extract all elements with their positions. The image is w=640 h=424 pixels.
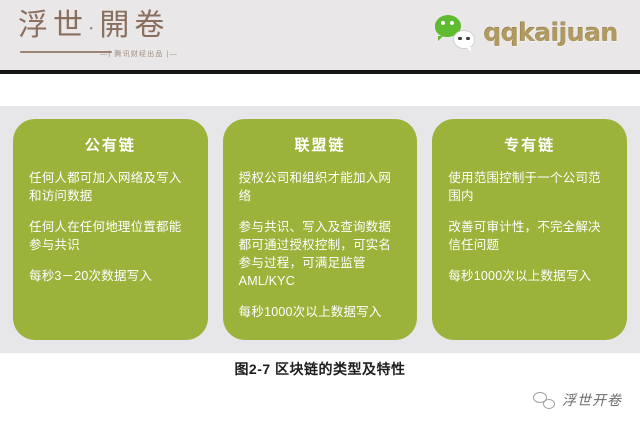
- card-title: 专有链: [448, 136, 611, 155]
- brand-logo-part2: 開卷: [99, 8, 169, 43]
- card-point: 任何人都可加入网络及写入和访问数据: [29, 169, 192, 205]
- wechat-account-name: qqkaijuan: [484, 18, 618, 47]
- card-point: 任何人在任何地理位置都能参与共识: [29, 218, 192, 254]
- wechat-bubble-small: [453, 30, 475, 49]
- brand-logo-text: 浮世·開卷: [18, 7, 169, 47]
- card-group: 公有链 任何人都可加入网络及写入和访问数据 任何人在任何地理位置都能参与共识 每…: [13, 119, 627, 340]
- card-point: 参与共识、写入及查询数据都可通过授权控制，可实名参与过程，可满足监管AML/KY…: [239, 218, 402, 290]
- figure-caption: 图2-7 区块链的类型及特性: [0, 359, 640, 379]
- card-private-chain: 专有链 使用范围控制于一个公司范围内 改善可审计性，不完全解决信任问题 每秒10…: [432, 119, 627, 340]
- card-title: 公有链: [29, 136, 192, 155]
- brand-subtitle: —| 腾讯财经出品 |—: [100, 49, 178, 59]
- header-divider-rule: [0, 70, 640, 74]
- wechat-eye-left: [441, 21, 445, 25]
- wechat-logo-icon: [435, 15, 475, 49]
- footer-bubble-small: [543, 399, 555, 409]
- brand-logo: 浮世·開卷 —| 腾讯财经出品 |—: [18, 7, 193, 63]
- wechat-eye-right: [450, 21, 454, 25]
- figure-panel: 公有链 任何人都可加入网络及写入和访问数据 任何人在任何地理位置都能参与共识 每…: [0, 106, 640, 353]
- document-page: 浮世·開卷 —| 腾讯财经出品 |— qqkaijuan 公有链 任何人都可加入…: [0, 0, 640, 424]
- card-title: 联盟链: [239, 136, 402, 155]
- card-point: 授权公司和组织才能加入网络: [239, 169, 402, 205]
- brand-logo-part1: 浮世: [18, 8, 88, 43]
- wechat-logo-icon: [533, 392, 555, 409]
- card-point: 改善可审计性，不完全解决信任问题: [448, 218, 611, 254]
- card-point: 每秒1000次以上数据写入: [239, 303, 402, 321]
- card-point: 每秒3－20次数据写入: [29, 267, 192, 285]
- card-public-chain: 公有链 任何人都可加入网络及写入和访问数据 任何人在任何地理位置都能参与共识 每…: [13, 119, 208, 340]
- page-header: 浮世·開卷 —| 腾讯财经出品 |— qqkaijuan: [0, 0, 640, 70]
- card-consortium-chain: 联盟链 授权公司和组织才能加入网络 参与共识、写入及查询数据都可通过授权控制，可…: [223, 119, 418, 340]
- brand-logo-separator: ·: [88, 16, 99, 40]
- wechat-account-block: qqkaijuan: [435, 11, 618, 53]
- wechat-small-eye-left: [458, 37, 462, 41]
- wechat-small-eye-right: [466, 37, 470, 41]
- footer-brand: 浮世开卷: [533, 390, 622, 410]
- brand-underline-divider: [20, 51, 112, 53]
- card-point: 使用范围控制于一个公司范围内: [448, 169, 611, 205]
- footer-account-name: 浮世开卷: [562, 390, 622, 410]
- card-point: 每秒1000次以上数据写入: [448, 267, 611, 285]
